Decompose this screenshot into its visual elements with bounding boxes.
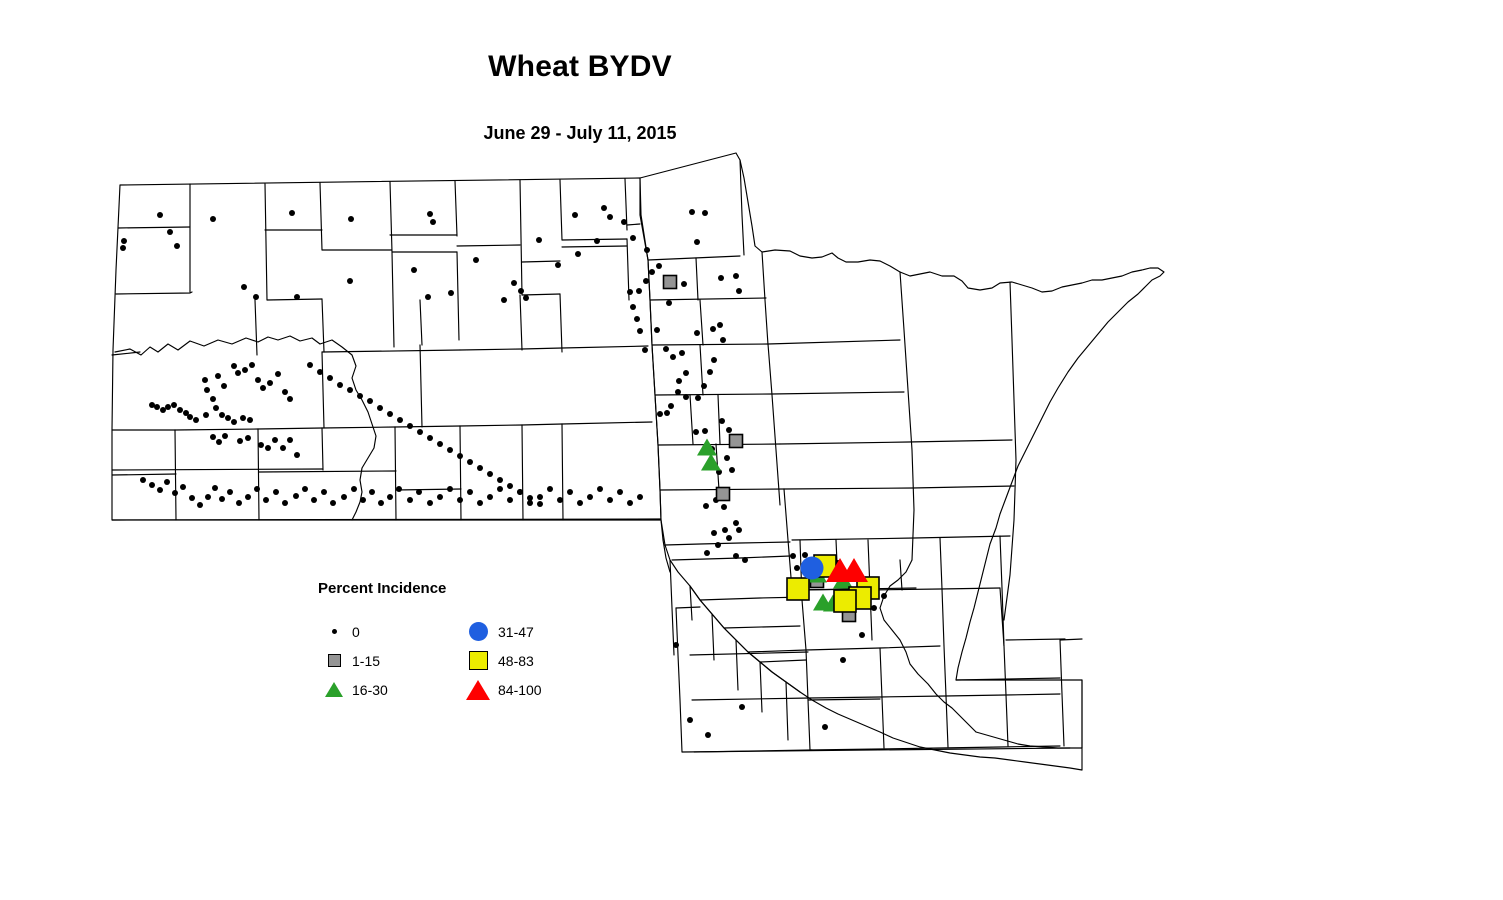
map-point — [477, 465, 483, 471]
map-point — [457, 497, 463, 503]
map-point — [670, 354, 676, 360]
map-point — [871, 605, 877, 611]
map-boundaries — [112, 153, 1164, 770]
map-point — [721, 504, 727, 510]
map-point — [657, 411, 663, 417]
map-point — [710, 326, 716, 332]
map-point — [675, 389, 681, 395]
map-point — [575, 251, 581, 257]
map-point — [683, 394, 689, 400]
legend-symbol-48-83 — [458, 646, 498, 675]
legend-label-1-15: 1-15 — [352, 653, 458, 669]
map-point — [240, 415, 246, 421]
map-point — [245, 435, 251, 441]
map-point — [187, 414, 193, 420]
map-point — [594, 238, 600, 244]
map-point — [634, 316, 640, 322]
map-point — [258, 442, 264, 448]
map-point — [416, 489, 422, 495]
legend-symbol-84-100 — [458, 675, 498, 704]
map-point — [193, 417, 199, 423]
map-point — [197, 502, 203, 508]
map-point — [210, 396, 216, 402]
map-point — [437, 494, 443, 500]
map-point — [427, 435, 433, 441]
map-point — [407, 497, 413, 503]
map-point — [165, 404, 171, 410]
map-point — [249, 362, 255, 368]
map-point — [717, 488, 730, 501]
map-point — [834, 590, 856, 612]
map-point — [210, 434, 216, 440]
map-point — [487, 471, 493, 477]
map-point — [427, 500, 433, 506]
map-point — [157, 487, 163, 493]
map-point — [705, 732, 711, 738]
map-point — [221, 383, 227, 389]
map-point — [643, 278, 649, 284]
map-page: Wheat BYDV June 29 - July 11, 2015 — [0, 0, 1503, 900]
map-point — [507, 483, 513, 489]
incidence-map — [0, 0, 1503, 900]
map-point — [666, 300, 672, 306]
map-point — [267, 380, 273, 386]
map-point — [733, 273, 739, 279]
map-point — [225, 415, 231, 421]
map-point — [637, 494, 643, 500]
map-point — [577, 500, 583, 506]
map-point — [378, 500, 384, 506]
map-point — [607, 214, 613, 220]
map-point — [321, 489, 327, 495]
map-point — [457, 453, 463, 459]
map-point — [341, 494, 347, 500]
map-point — [627, 500, 633, 506]
map-point — [120, 245, 126, 251]
map-point — [289, 210, 295, 216]
map-point — [707, 369, 713, 375]
map-point — [664, 276, 677, 289]
map-point — [683, 370, 689, 376]
map-point — [149, 402, 155, 408]
map-point — [330, 500, 336, 506]
map-point — [679, 350, 685, 356]
map-point — [407, 423, 413, 429]
map-point — [157, 212, 163, 218]
map-point — [673, 642, 679, 648]
map-point — [411, 267, 417, 273]
map-point — [687, 717, 693, 723]
map-point — [822, 724, 828, 730]
map-point — [689, 209, 695, 215]
map-point — [730, 435, 743, 448]
map-point — [567, 489, 573, 495]
map-point — [726, 427, 732, 433]
map-point — [275, 371, 281, 377]
map-point — [347, 387, 353, 393]
map-point — [205, 494, 211, 500]
map-point — [801, 557, 824, 580]
map-point — [722, 527, 728, 533]
map-point — [210, 216, 216, 222]
map-point — [367, 398, 373, 404]
map-point — [280, 445, 286, 451]
legend-title: Percent Incidence — [318, 580, 546, 597]
map-point — [430, 219, 436, 225]
map-point — [607, 497, 613, 503]
map-point — [357, 393, 363, 399]
map-point — [527, 495, 533, 501]
map-point — [702, 210, 708, 216]
map-point — [337, 382, 343, 388]
map-point — [360, 497, 366, 503]
map-point — [167, 229, 173, 235]
map-point — [668, 403, 674, 409]
map-point — [695, 395, 701, 401]
map-point — [171, 402, 177, 408]
map-point — [802, 552, 808, 558]
map-point — [347, 278, 353, 284]
map-point — [642, 347, 648, 353]
map-point — [617, 489, 623, 495]
map-point — [511, 280, 517, 286]
map-point — [467, 459, 473, 465]
map-point — [294, 294, 300, 300]
map-point — [711, 357, 717, 363]
map-point — [231, 419, 237, 425]
legend-symbol-31-47 — [458, 617, 498, 646]
map-point — [717, 322, 723, 328]
map-point — [718, 275, 724, 281]
map-point — [447, 447, 453, 453]
map-point — [254, 486, 260, 492]
map-point — [189, 495, 195, 501]
legend: Percent Incidence 0 31-47 1-15 48-83 16-… — [316, 580, 546, 705]
legend-label-31-47: 31-47 — [498, 624, 546, 640]
map-point — [501, 297, 507, 303]
map-point — [859, 632, 865, 638]
map-point — [601, 205, 607, 211]
map-point — [572, 212, 578, 218]
legend-label-zero: 0 — [352, 624, 458, 640]
map-point — [417, 429, 423, 435]
map-point — [523, 295, 529, 301]
map-point — [317, 369, 323, 375]
legend-symbol-zero — [316, 617, 352, 646]
map-point — [507, 497, 513, 503]
map-point — [557, 497, 563, 503]
map-point — [637, 328, 643, 334]
map-point — [164, 479, 170, 485]
map-point — [702, 428, 708, 434]
map-point — [656, 263, 662, 269]
map-point — [302, 486, 308, 492]
map-point — [203, 412, 209, 418]
map-point — [694, 330, 700, 336]
map-point — [242, 367, 248, 373]
map-point — [736, 288, 742, 294]
map-point — [742, 557, 748, 563]
map-point — [701, 454, 721, 471]
map-point — [715, 542, 721, 548]
map-point — [287, 396, 293, 402]
map-point — [348, 216, 354, 222]
map-point — [294, 452, 300, 458]
map-point — [736, 527, 742, 533]
map-point — [213, 405, 219, 411]
map-point — [237, 438, 243, 444]
map-point — [425, 294, 431, 300]
map-point — [787, 578, 809, 600]
map-point — [247, 417, 253, 423]
map-point — [121, 238, 127, 244]
map-point — [180, 484, 186, 490]
map-point — [265, 445, 271, 451]
legend-label-84-100: 84-100 — [498, 682, 546, 698]
map-point — [235, 370, 241, 376]
map-point — [149, 482, 155, 488]
map-point — [215, 373, 221, 379]
map-point — [236, 500, 242, 506]
map-point — [663, 346, 669, 352]
map-point — [448, 290, 454, 296]
map-point — [212, 485, 218, 491]
map-point — [473, 257, 479, 263]
map-point — [587, 494, 593, 500]
map-point — [293, 493, 299, 499]
map-point — [273, 489, 279, 495]
map-point — [518, 288, 524, 294]
map-point — [621, 219, 627, 225]
map-point — [719, 418, 725, 424]
legend-symbol-1-15 — [316, 646, 352, 675]
map-point — [536, 237, 542, 243]
map-point — [693, 429, 699, 435]
map-point — [245, 494, 251, 500]
map-point — [272, 437, 278, 443]
map-point — [396, 486, 402, 492]
map-point — [263, 497, 269, 503]
map-point — [174, 243, 180, 249]
map-point — [282, 500, 288, 506]
map-point — [627, 289, 633, 295]
map-point — [172, 490, 178, 496]
map-point — [227, 489, 233, 495]
map-point — [701, 383, 707, 389]
map-point — [704, 550, 710, 556]
legend-symbol-16-30 — [316, 675, 352, 704]
legend-label-16-30: 16-30 — [352, 682, 458, 698]
map-point — [636, 288, 642, 294]
map-point — [724, 455, 730, 461]
map-point — [231, 363, 237, 369]
map-point — [630, 304, 636, 310]
map-point — [790, 553, 796, 559]
map-point — [739, 704, 745, 710]
map-point — [497, 477, 503, 483]
map-point — [377, 405, 383, 411]
map-point — [726, 535, 732, 541]
map-point — [537, 494, 543, 500]
map-point — [222, 433, 228, 439]
map-point — [447, 486, 453, 492]
map-point — [204, 387, 210, 393]
map-point — [840, 657, 846, 663]
map-point — [555, 262, 561, 268]
map-point — [219, 496, 225, 502]
map-point — [287, 437, 293, 443]
map-point — [253, 294, 259, 300]
map-point — [427, 211, 433, 217]
map-point — [881, 593, 887, 599]
map-point — [219, 412, 225, 418]
map-point — [177, 407, 183, 413]
map-point — [160, 407, 166, 413]
map-point — [327, 375, 333, 381]
map-point — [467, 489, 473, 495]
map-point — [547, 486, 553, 492]
map-point — [711, 530, 717, 536]
map-point — [369, 489, 375, 495]
map-point — [720, 337, 726, 343]
map-point — [216, 439, 222, 445]
map-point — [351, 486, 357, 492]
map-point — [387, 411, 393, 417]
map-point — [487, 494, 493, 500]
map-point — [241, 284, 247, 290]
legend-grid: 0 31-47 1-15 48-83 16-30 84-100 — [316, 617, 546, 704]
legend-label-48-83: 48-83 — [498, 653, 546, 669]
map-point — [260, 385, 266, 391]
map-point — [597, 486, 603, 492]
map-point — [517, 489, 523, 495]
map-point — [681, 281, 687, 287]
map-point — [654, 327, 660, 333]
map-point — [733, 520, 739, 526]
map-point — [497, 486, 503, 492]
map-point — [694, 239, 700, 245]
map-point — [664, 410, 670, 416]
map-point — [733, 553, 739, 559]
map-point — [477, 500, 483, 506]
map-point — [676, 378, 682, 384]
map-point — [630, 235, 636, 241]
map-point — [397, 417, 403, 423]
map-point — [282, 389, 288, 395]
map-point — [703, 503, 709, 509]
map-point — [644, 247, 650, 253]
map-point — [311, 497, 317, 503]
map-point — [794, 565, 800, 571]
data-points-16-30 — [697, 439, 853, 612]
map-point — [649, 269, 655, 275]
map-point — [537, 501, 543, 507]
map-point — [729, 467, 735, 473]
map-point — [140, 477, 146, 483]
map-point — [307, 362, 313, 368]
data-points-31-47 — [801, 557, 824, 580]
map-point — [437, 441, 443, 447]
map-point — [387, 494, 393, 500]
map-point — [255, 377, 261, 383]
map-point — [202, 377, 208, 383]
